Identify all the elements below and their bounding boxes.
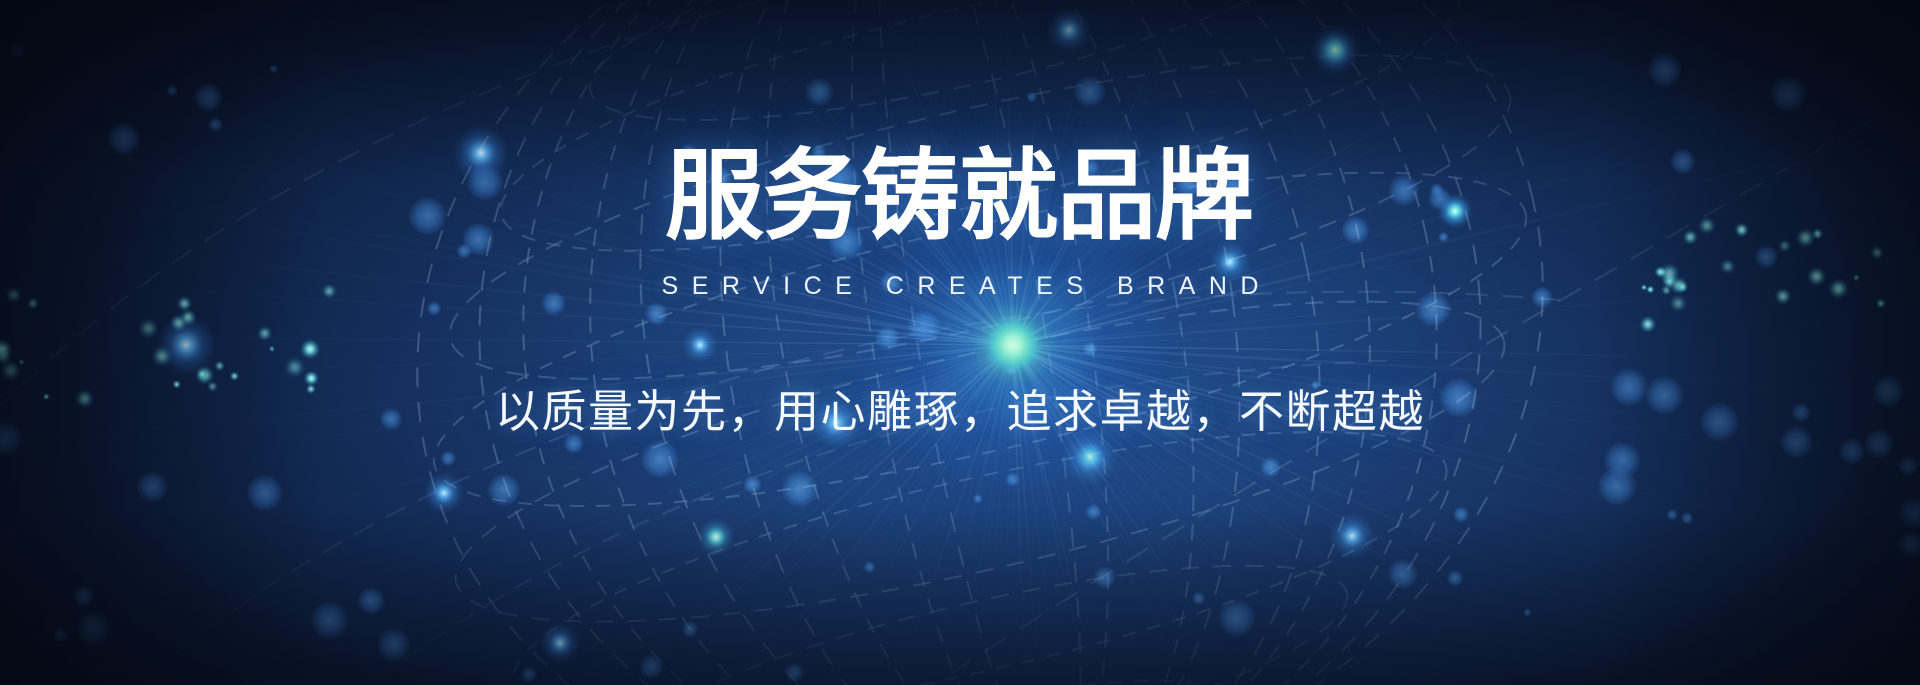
- star-group: [0, 217, 1886, 409]
- star-clusters-layer: [0, 0, 1920, 685]
- hero-banner: 服务铸就品牌 SERVICE CREATES BRAND 以质量为先，用心雕琢，…: [0, 0, 1920, 685]
